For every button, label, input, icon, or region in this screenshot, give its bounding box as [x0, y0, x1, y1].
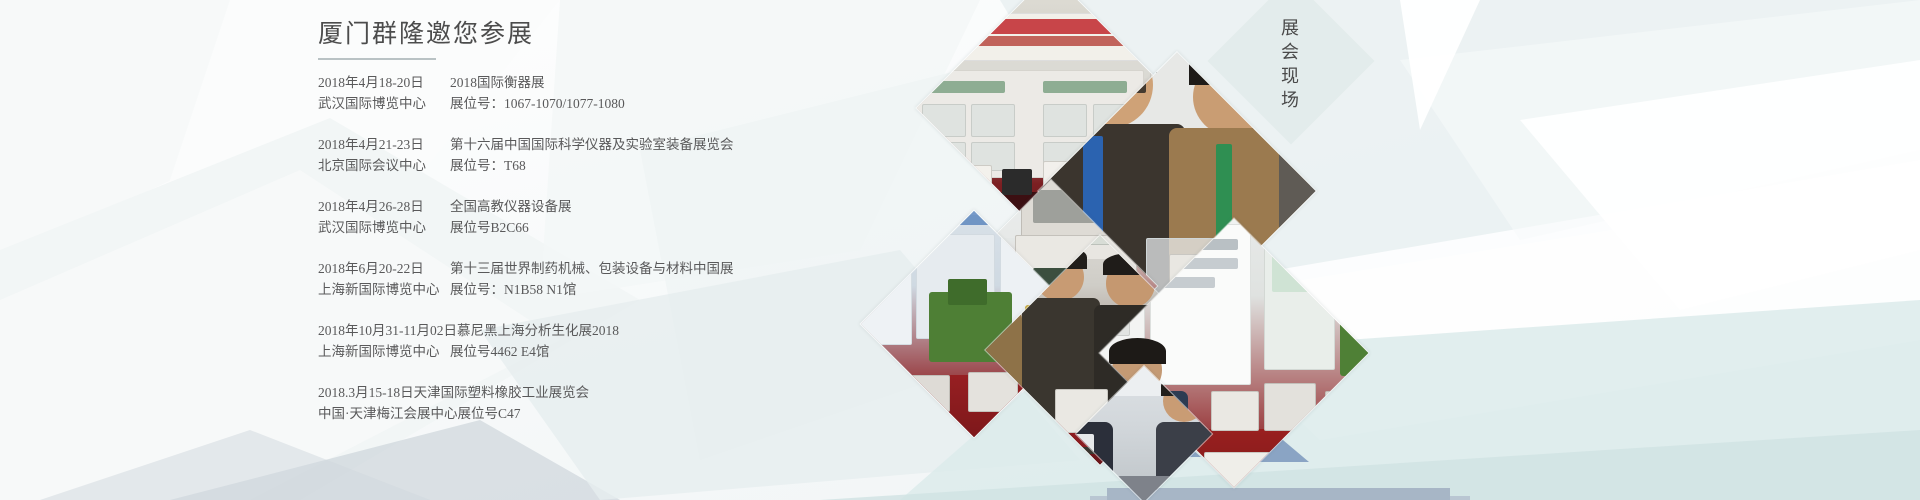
event-item: 2018年4月21-23日 第十六届中国国际科学仪器及实验室装备展览会 北京国际…	[318, 134, 1078, 176]
event-row-secondary: 上海新国际博览中心 展位号：N1B58 N1馆	[318, 279, 1078, 300]
event-date: 2018年4月26-28日	[318, 196, 450, 217]
event-date: 2018.3月15-18日天津国际塑料橡胶工业展览会	[318, 382, 589, 403]
event-row-secondary: 武汉国际博览中心 展位号B2C66	[318, 217, 1078, 238]
event-booth: 展位号4462 E4馆	[450, 341, 549, 362]
event-item: 2018年6月20-22日 第十三届世界制药机械、包装设备与材料中国展 上海新国…	[318, 258, 1078, 300]
event-venue: 上海新国际博览中心	[318, 279, 450, 300]
event-venue: 中国·天津梅江会展中心	[318, 403, 458, 424]
event-row-primary: 2018年6月20-22日 第十三届世界制药机械、包装设备与材料中国展	[318, 258, 1078, 279]
event-row-primary: 2018年4月18-20日 2018国际衡器展	[318, 72, 1078, 93]
event-booth: 展位号B2C66	[450, 217, 529, 238]
title-underline	[318, 58, 436, 60]
event-row-primary: 2018年10月31-11月02日 慕尼黑上海分析生化展2018	[318, 320, 1078, 341]
event-date: 2018年4月18-20日	[318, 72, 450, 93]
event-date: 2018年6月20-22日	[318, 258, 450, 279]
event-row-secondary: 北京国际会议中心 展位号：T68	[318, 155, 1078, 176]
event-venue: 北京国际会议中心	[318, 155, 450, 176]
event-row-primary: 2018年4月26-28日 全国高教仪器设备展	[318, 196, 1078, 217]
event-venue: 武汉国际博览中心	[318, 93, 450, 114]
event-row-primary: 2018年4月21-23日 第十六届中国国际科学仪器及实验室装备展览会	[318, 134, 1078, 155]
section-caption: 展会现场	[1276, 18, 1302, 114]
event-row-secondary: 中国·天津梅江会展中心 展位号C47	[318, 403, 1078, 424]
event-venue: 武汉国际博览中心	[318, 217, 450, 238]
event-booth: 展位号：T68	[450, 155, 526, 176]
event-row-primary: 2018.3月15-18日天津国际塑料橡胶工业展览会	[318, 382, 1078, 403]
event-row-secondary: 武汉国际博览中心 展位号：1067-1070/1077-1080	[318, 93, 1078, 114]
event-item: 2018.3月15-18日天津国际塑料橡胶工业展览会 中国·天津梅江会展中心 展…	[318, 382, 1078, 424]
event-item: 2018年4月26-28日 全国高教仪器设备展 武汉国际博览中心 展位号B2C6…	[318, 196, 1078, 238]
event-row-secondary: 上海新国际博览中心 展位号4462 E4馆	[318, 341, 1078, 362]
page-title: 厦门群隆邀您参展	[318, 18, 1078, 52]
event-name: 第十三届世界制药机械、包装设备与材料中国展	[450, 258, 734, 279]
event-name: 第十六届中国国际科学仪器及实验室装备展览会	[450, 134, 734, 155]
event-date: 2018年4月21-23日	[318, 134, 450, 155]
event-booth: 展位号：1067-1070/1077-1080	[450, 93, 625, 114]
event-name: 全国高教仪器设备展	[450, 196, 572, 217]
event-item: 2018年10月31-11月02日 慕尼黑上海分析生化展2018 上海新国际博览…	[318, 320, 1078, 362]
event-booth: 展位号：N1B58 N1馆	[450, 279, 576, 300]
event-name: 慕尼黑上海分析生化展2018	[457, 320, 619, 341]
event-venue: 上海新国际博览中心	[318, 341, 450, 362]
event-name: 2018国际衡器展	[450, 72, 545, 93]
event-item: 2018年4月18-20日 2018国际衡器展 武汉国际博览中心 展位号：106…	[318, 72, 1078, 114]
exhibition-banner: 厦门群隆邀您参展 2018年4月18-20日 2018国际衡器展 武汉国际博览中…	[0, 0, 1920, 500]
event-date: 2018年10月31-11月02日	[318, 320, 457, 341]
event-list-panel: 厦门群隆邀您参展 2018年4月18-20日 2018国际衡器展 武汉国际博览中…	[318, 18, 1078, 488]
event-booth: 展位号C47	[458, 403, 521, 424]
